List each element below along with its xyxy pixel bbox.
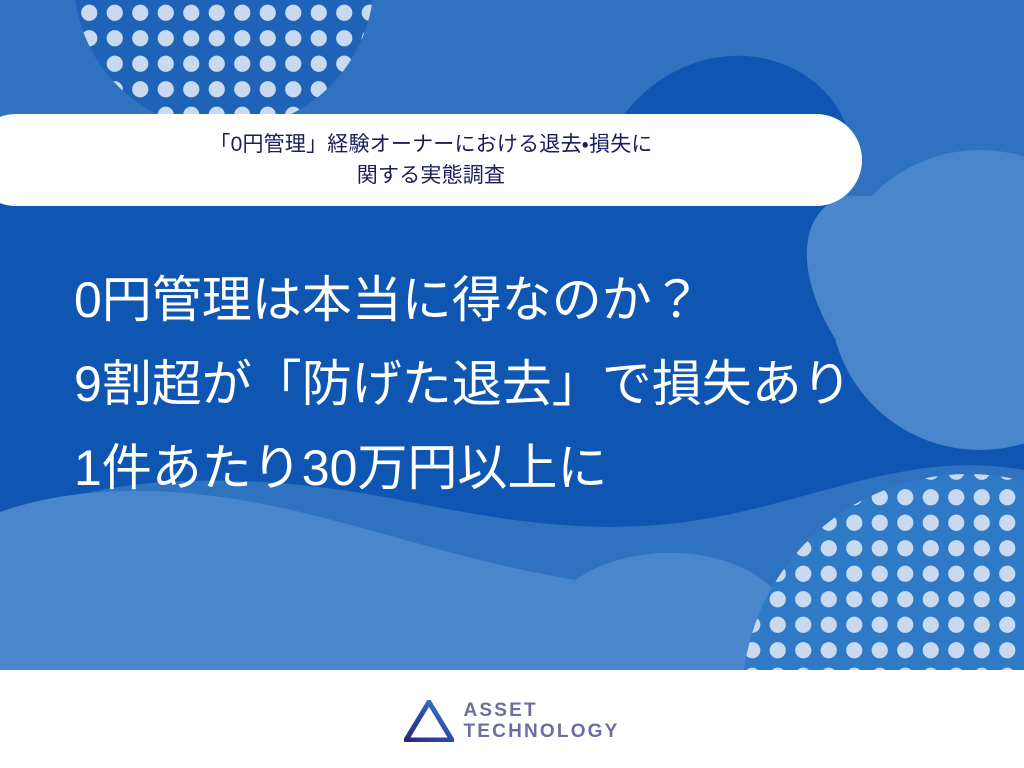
header-pill: 「0円管理」経験オーナーにおける退去・損失に 関する実態調査 [0, 114, 862, 206]
logo-word-technology: TECHNOLOGY [463, 722, 619, 741]
triangle-logo-icon [404, 700, 454, 742]
footer-bar: ASSET TECHNOLOGY [0, 670, 1024, 768]
header-title-line-1: 「0円管理」経験オーナーにおける退去・損失に [209, 129, 652, 160]
company-logo: ASSET TECHNOLOGY [404, 700, 619, 742]
headline-line-3: 1件あたり30万円以上に [74, 426, 974, 510]
logo-word-asset: ASSET [463, 701, 619, 720]
headline-line-1: 0円管理は本当に得なのか？ [74, 258, 974, 342]
slide-root: 「0円管理」経験オーナーにおける退去・損失に 関する実態調査 0円管理は本当に得… [0, 0, 1024, 768]
header-title-line-2: 関する実態調査 [357, 160, 505, 191]
headline-line-2: 9割超が「防げた退去」で損失あり [74, 342, 974, 426]
headline-block: 0円管理は本当に得なのか？ 9割超が「防げた退去」で損失あり 1件あたり30万円… [74, 258, 974, 510]
logo-wordmark: ASSET TECHNOLOGY [463, 701, 619, 741]
